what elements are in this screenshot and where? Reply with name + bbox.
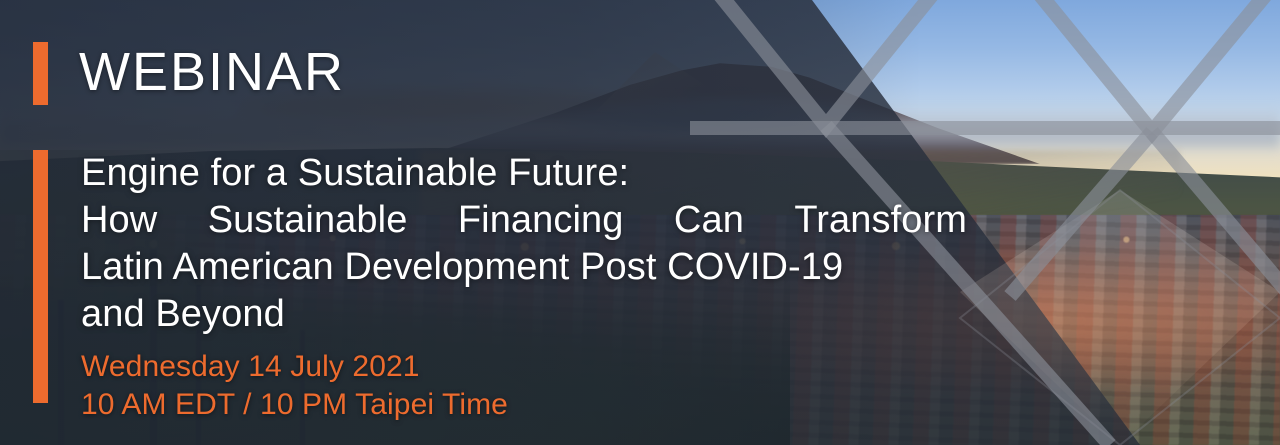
webinar-title: Engine for a Sustainable Future: How Sus… (81, 150, 967, 338)
title-line-2-word: Financing (458, 197, 624, 244)
title-line-2-word: Can (674, 197, 744, 244)
title-line-2: How Sustainable Financing Can Transform (81, 197, 967, 244)
accent-bar-main (33, 150, 48, 403)
title-line-3: Latin American Development Post COVID-19 (81, 244, 967, 291)
title-line-2-word: Transform (794, 197, 967, 244)
webinar-banner: WEBINAR Engine for a Sustainable Future:… (0, 0, 1280, 445)
title-line-1: Engine for a Sustainable Future: (81, 150, 967, 197)
webinar-time: 10 AM EDT / 10 PM Taipei Time (81, 386, 967, 424)
title-line-4: and Beyond (81, 291, 967, 338)
webinar-date: Wednesday 14 July 2021 (81, 348, 967, 386)
title-line-2-word: How (81, 197, 157, 244)
kicker-row: WEBINAR (33, 42, 345, 105)
accent-bar-top (33, 42, 48, 105)
banner-content: WEBINAR Engine for a Sustainable Future:… (0, 0, 1280, 445)
schedule-block: Wednesday 14 July 2021 10 AM EDT / 10 PM… (81, 348, 967, 424)
kicker-label: WEBINAR (79, 42, 345, 105)
title-line-2-word: Sustainable (208, 197, 408, 244)
text-column: Engine for a Sustainable Future: How Sus… (81, 150, 967, 424)
body-row: Engine for a Sustainable Future: How Sus… (33, 150, 967, 424)
